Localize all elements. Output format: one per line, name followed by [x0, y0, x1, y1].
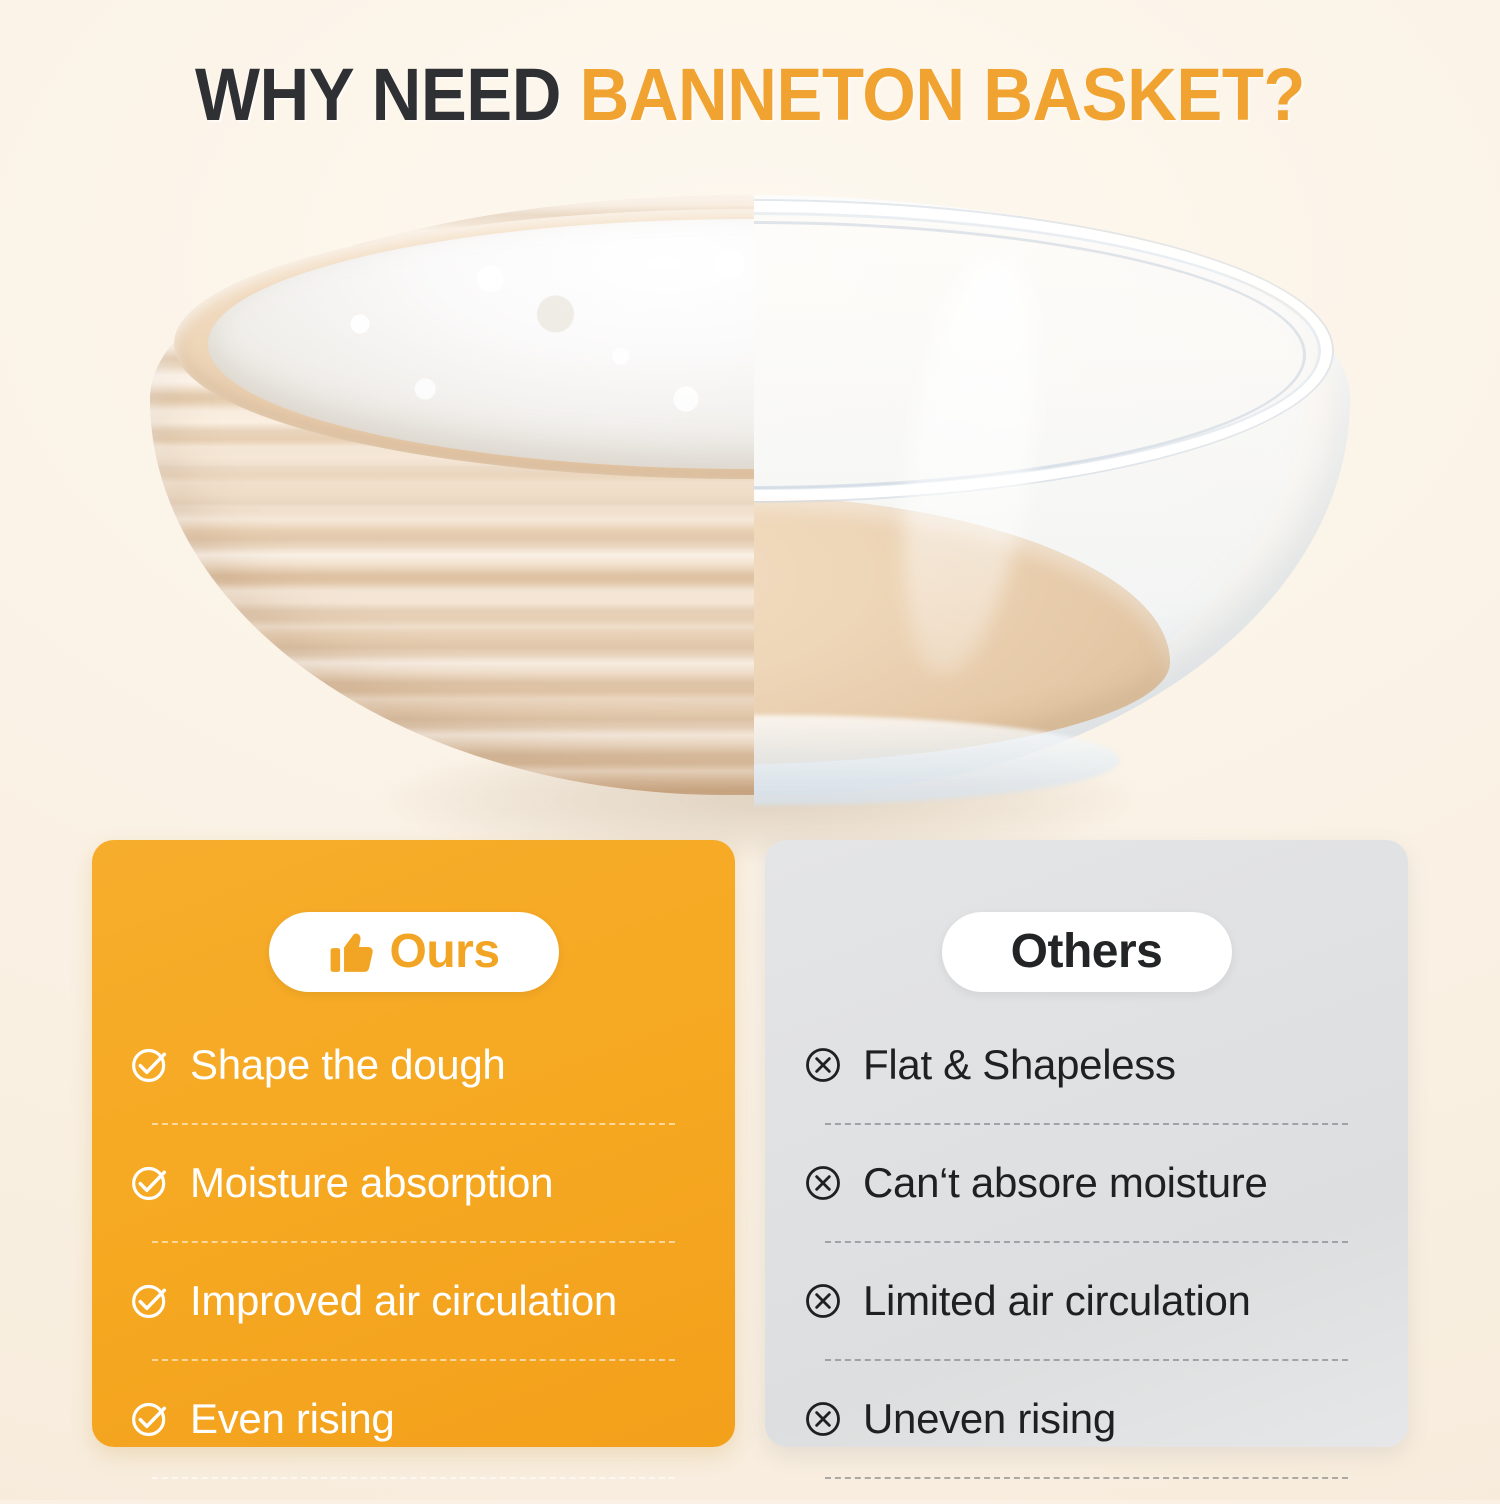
list-item-label: Even rising [190, 1398, 394, 1440]
list-separator [152, 1359, 675, 1361]
ours-benefit-list: Shape the dough Moisture absorption [130, 1032, 697, 1504]
banneton-basket-half [150, 195, 754, 815]
floured-dough-mound [208, 219, 754, 469]
list-separator [152, 1477, 675, 1479]
list-separator [825, 1359, 1348, 1361]
list-item: Flat & Shapeless [803, 1032, 1370, 1098]
list-item: Can‘t absore moisture [803, 1150, 1370, 1216]
infographic-canvas: WHY NEED BANNETON BASKET? [0, 0, 1500, 1500]
x-circle-icon [803, 1399, 843, 1439]
thumbs-up-icon [327, 926, 381, 978]
x-circle-icon [803, 1281, 843, 1321]
hero-product-image [150, 195, 1350, 835]
others-drawback-list: Flat & Shapeless Can‘t absore moisture [803, 1032, 1370, 1504]
check-circle-icon [130, 1399, 170, 1439]
list-item: Even rising [130, 1386, 697, 1452]
list-item-label: Shape the dough [190, 1044, 505, 1086]
x-circle-icon [803, 1163, 843, 1203]
list-separator [152, 1123, 675, 1125]
list-separator [825, 1477, 1348, 1479]
title-accent-part: BANNETON BASKET? [580, 53, 1305, 136]
ours-header-pill: Ours [269, 912, 559, 992]
list-item-label: Moisture absorption [190, 1162, 553, 1204]
ours-pill-label: Ours [389, 928, 499, 976]
others-pill-label: Others [1011, 928, 1163, 976]
list-separator [152, 1241, 675, 1243]
check-circle-icon [130, 1045, 170, 1085]
check-circle-icon [130, 1163, 170, 1203]
title-dark-part: WHY NEED [195, 53, 561, 136]
x-circle-icon [803, 1045, 843, 1085]
list-item: Uneven rising [803, 1386, 1370, 1452]
list-item-label: Uneven rising [863, 1398, 1116, 1440]
list-item: Moisture absorption [130, 1150, 697, 1216]
list-item-label: Flat & Shapeless [863, 1044, 1176, 1086]
list-item: Shape the dough [130, 1032, 697, 1098]
list-item-label: Can‘t absore moisture [863, 1162, 1268, 1204]
list-separator [825, 1241, 1348, 1243]
flour-dusting [208, 219, 754, 469]
list-item-label: Limited air circulation [863, 1280, 1251, 1322]
others-header-pill: Others [942, 912, 1232, 992]
page-title: WHY NEED BANNETON BASKET? [53, 58, 1448, 132]
others-panel: Others Flat & Shapeless Can‘t a [765, 840, 1408, 1447]
split-bowl-comparison [150, 195, 1350, 815]
check-circle-icon [130, 1281, 170, 1321]
list-separator [825, 1123, 1348, 1125]
ours-panel: Ours Shape the dough Moisture a [92, 840, 735, 1447]
glass-bowl-half [754, 195, 1350, 815]
list-item-label: Improved air circulation [190, 1280, 617, 1322]
list-item: Limited air circulation [803, 1268, 1370, 1334]
list-item: Improved air circulation [130, 1268, 697, 1334]
comparison-section: Ours Shape the dough Moisture a [0, 840, 1500, 1455]
